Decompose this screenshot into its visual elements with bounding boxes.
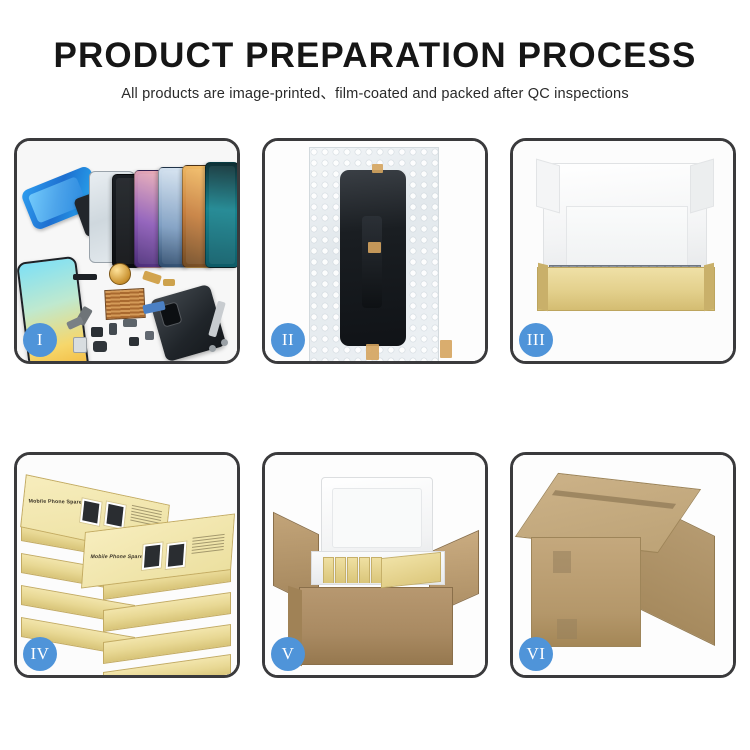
process-step-2: II <box>262 138 488 364</box>
outer-carton-image <box>299 587 453 665</box>
step-badge-1: I <box>23 323 57 357</box>
process-step-6: VI <box>510 452 736 678</box>
carton-front-face-image <box>531 537 641 647</box>
step-badge-3: III <box>519 323 553 357</box>
process-step-1: I <box>14 138 240 364</box>
wrapped-screen-image <box>340 170 406 346</box>
process-step-5: V <box>262 452 488 678</box>
phone-lineup-image <box>112 163 237 268</box>
page-subtitle: All products are image-printed、film-coat… <box>0 87 750 102</box>
process-step-3: III <box>510 138 736 364</box>
step-badge-5: V <box>271 637 305 671</box>
chip-board-image <box>104 288 146 320</box>
process-step-4: Mobile Phone Spare Parts Mobile Phone Sp… <box>14 452 240 678</box>
process-step-grid: I II III <box>14 138 736 678</box>
page-title: PRODUCT PREPARATION PROCESS <box>0 38 750 73</box>
bubble-wrap-bag-image <box>309 147 439 361</box>
kraft-box-tray-image <box>537 267 715 311</box>
carton-tab-upper-image <box>553 551 571 573</box>
yellow-box-slab-image <box>381 552 441 588</box>
step-badge-4: IV <box>23 637 57 671</box>
step-badge-6: VI <box>519 637 553 671</box>
foam-lid-image <box>543 163 707 277</box>
carton-tab-lower-image <box>557 619 577 639</box>
gold-component-image <box>109 263 131 285</box>
page-header: PRODUCT PREPARATION PROCESS All products… <box>0 0 750 102</box>
step-badge-2: II <box>271 323 305 357</box>
